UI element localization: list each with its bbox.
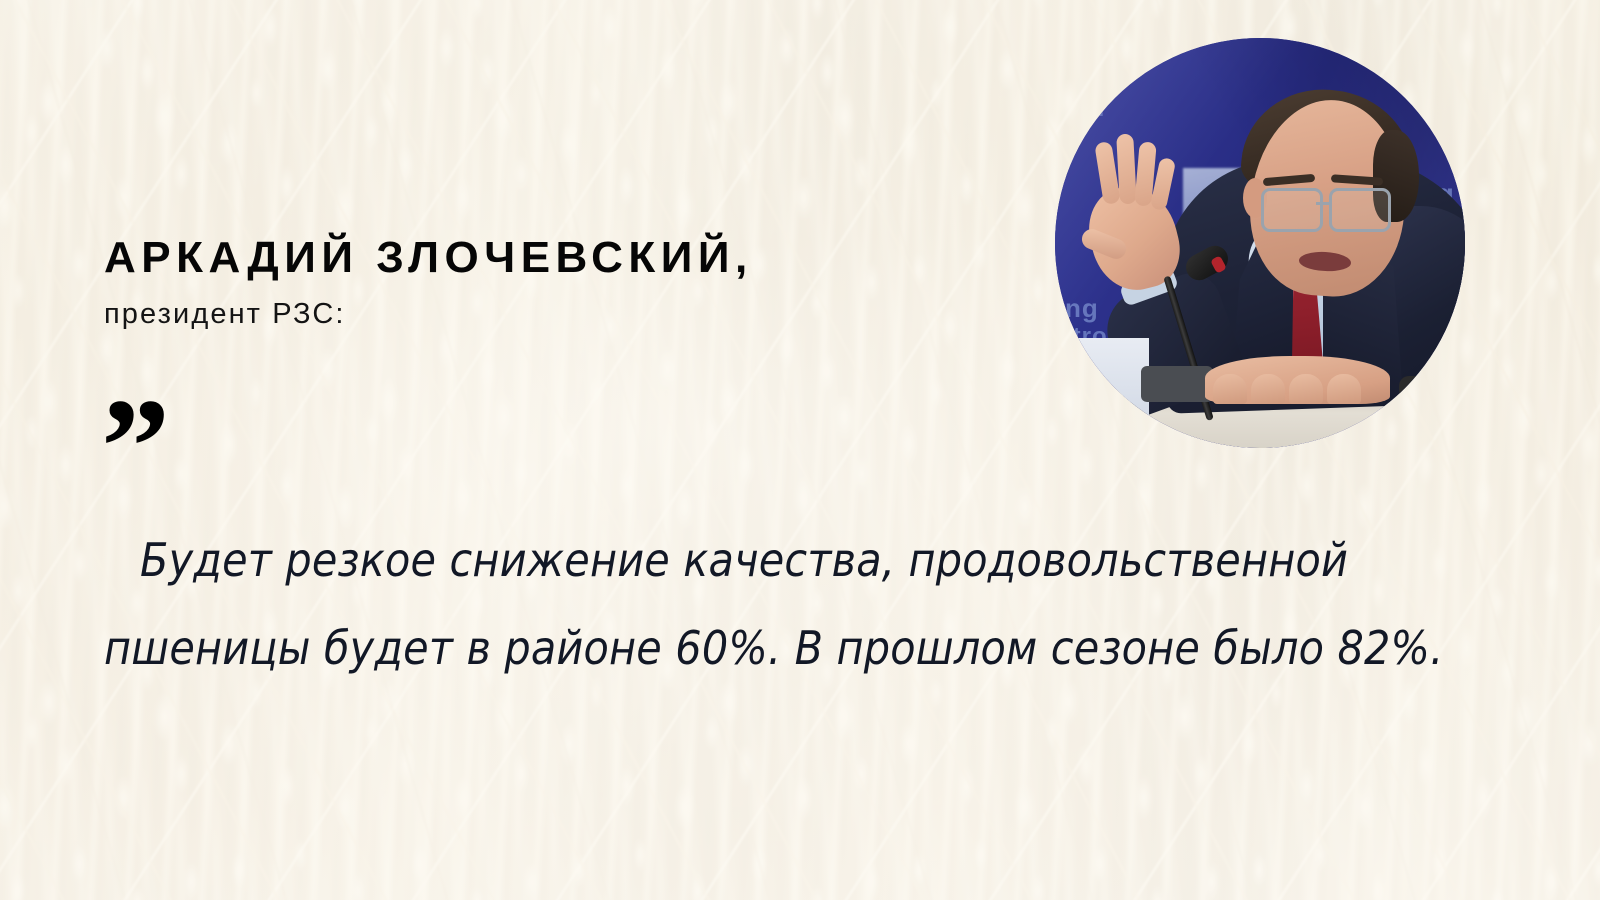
eyeglasses-bridge (1316, 202, 1331, 205)
desk-finger-2 (1251, 374, 1285, 404)
eyeglasses-lens-left (1261, 188, 1323, 232)
desk-placard (1063, 338, 1149, 446)
desk-finger-3 (1289, 374, 1323, 404)
desk-finger-4 (1327, 374, 1361, 404)
desk-finger-1 (1213, 374, 1247, 404)
finger-2 (1116, 134, 1137, 205)
speaker-name: АРКАДИЙ ЗЛОЧЕВСКИЙ, (104, 236, 753, 280)
speaker-portrait: ii ng OLD ng ntro (1055, 38, 1465, 448)
desk-device-left (1141, 366, 1213, 402)
eyeglasses-lens-right (1329, 188, 1391, 232)
quotation-mark-icon: ” (101, 378, 168, 516)
desk-device-right (1399, 376, 1459, 400)
quote-text: Будет резкое снижение качества, продовол… (104, 516, 1534, 692)
backdrop-logo-text-5: ii (1091, 96, 1105, 122)
quote-card: АРКАДИЙ ЗЛОЧЕВСКИЙ, президент РЗС: ” Буд… (0, 0, 1600, 900)
backdrop-logo-text-3: ng (1065, 293, 1099, 324)
card-content: АРКАДИЙ ЗЛОЧЕВСКИЙ, президент РЗС: ” Буд… (0, 0, 1600, 900)
speaker-role: президент РЗС: (104, 300, 346, 329)
